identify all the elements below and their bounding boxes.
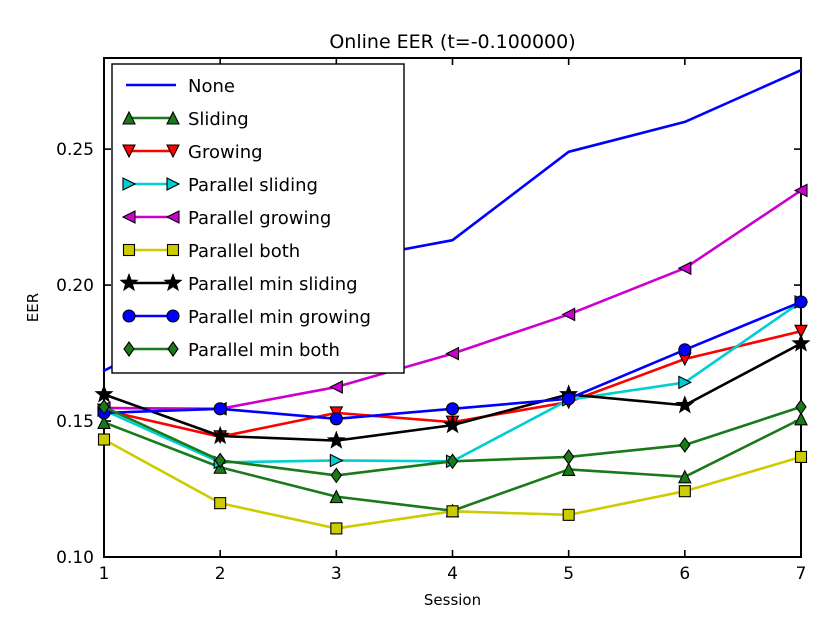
chart-figure: Online EER (t=-0.100000)0.100.150.200.25… xyxy=(0,0,830,623)
marker-triangle-left xyxy=(563,308,575,320)
marker-triangle-left xyxy=(447,348,459,360)
marker-circle xyxy=(795,296,807,308)
y-tick-label: 0.10 xyxy=(56,548,94,568)
marker-square xyxy=(99,434,110,445)
marker-circle xyxy=(679,344,691,356)
x-tick-label: 7 xyxy=(796,564,807,584)
y-axis-title: EER xyxy=(24,293,42,322)
marker-star xyxy=(444,417,460,432)
marker-circle xyxy=(563,393,575,405)
legend-label: Parallel both xyxy=(188,241,300,262)
legend-label: Parallel min sliding xyxy=(188,274,358,295)
marker-square xyxy=(168,245,179,256)
legend: NoneSlidingGrowingParallel slidingParall… xyxy=(112,64,404,373)
chart-canvas: Online EER (t=-0.100000)0.100.150.200.25… xyxy=(0,0,830,623)
x-tick-label: 4 xyxy=(447,564,458,584)
legend-label: Parallel min both xyxy=(188,340,340,361)
marker-square xyxy=(447,506,458,517)
marker-circle xyxy=(214,403,226,415)
legend-label: Growing xyxy=(188,142,263,163)
marker-star xyxy=(328,432,344,447)
x-tick-label: 5 xyxy=(563,564,574,584)
x-axis-title: Session xyxy=(424,591,481,609)
marker-circle xyxy=(167,310,179,322)
legend-label: Parallel sliding xyxy=(188,175,318,196)
x-tick-label: 2 xyxy=(215,564,226,584)
y-tick-label: 0.15 xyxy=(56,412,94,432)
marker-diamond xyxy=(564,450,574,464)
marker-triangle-left xyxy=(679,262,691,274)
legend-label: None xyxy=(188,76,235,97)
series-parallel-both xyxy=(99,434,807,534)
x-tick-label: 3 xyxy=(331,564,342,584)
y-tick-label: 0.25 xyxy=(56,140,94,160)
marker-square xyxy=(331,523,342,534)
marker-diamond xyxy=(331,468,341,482)
marker-triangle-left xyxy=(330,381,342,393)
marker-square xyxy=(215,498,226,509)
y-tick-label: 0.20 xyxy=(56,276,94,296)
legend-label: Parallel growing xyxy=(188,208,331,229)
marker-square xyxy=(796,451,807,462)
marker-diamond xyxy=(796,400,806,414)
marker-diamond xyxy=(680,438,690,452)
marker-star xyxy=(677,397,693,412)
marker-square xyxy=(563,509,574,520)
x-tick-label: 6 xyxy=(679,564,690,584)
legend-label: Parallel min growing xyxy=(188,307,371,328)
x-tick-label: 1 xyxy=(99,564,110,584)
marker-triangle-right xyxy=(330,454,342,466)
marker-circle xyxy=(447,403,459,415)
marker-circle xyxy=(123,310,135,322)
marker-circle xyxy=(330,413,342,425)
chart-title: Online EER (t=-0.100000) xyxy=(329,31,575,53)
marker-square xyxy=(124,245,135,256)
marker-square xyxy=(679,486,690,497)
legend-label: Sliding xyxy=(188,109,249,130)
